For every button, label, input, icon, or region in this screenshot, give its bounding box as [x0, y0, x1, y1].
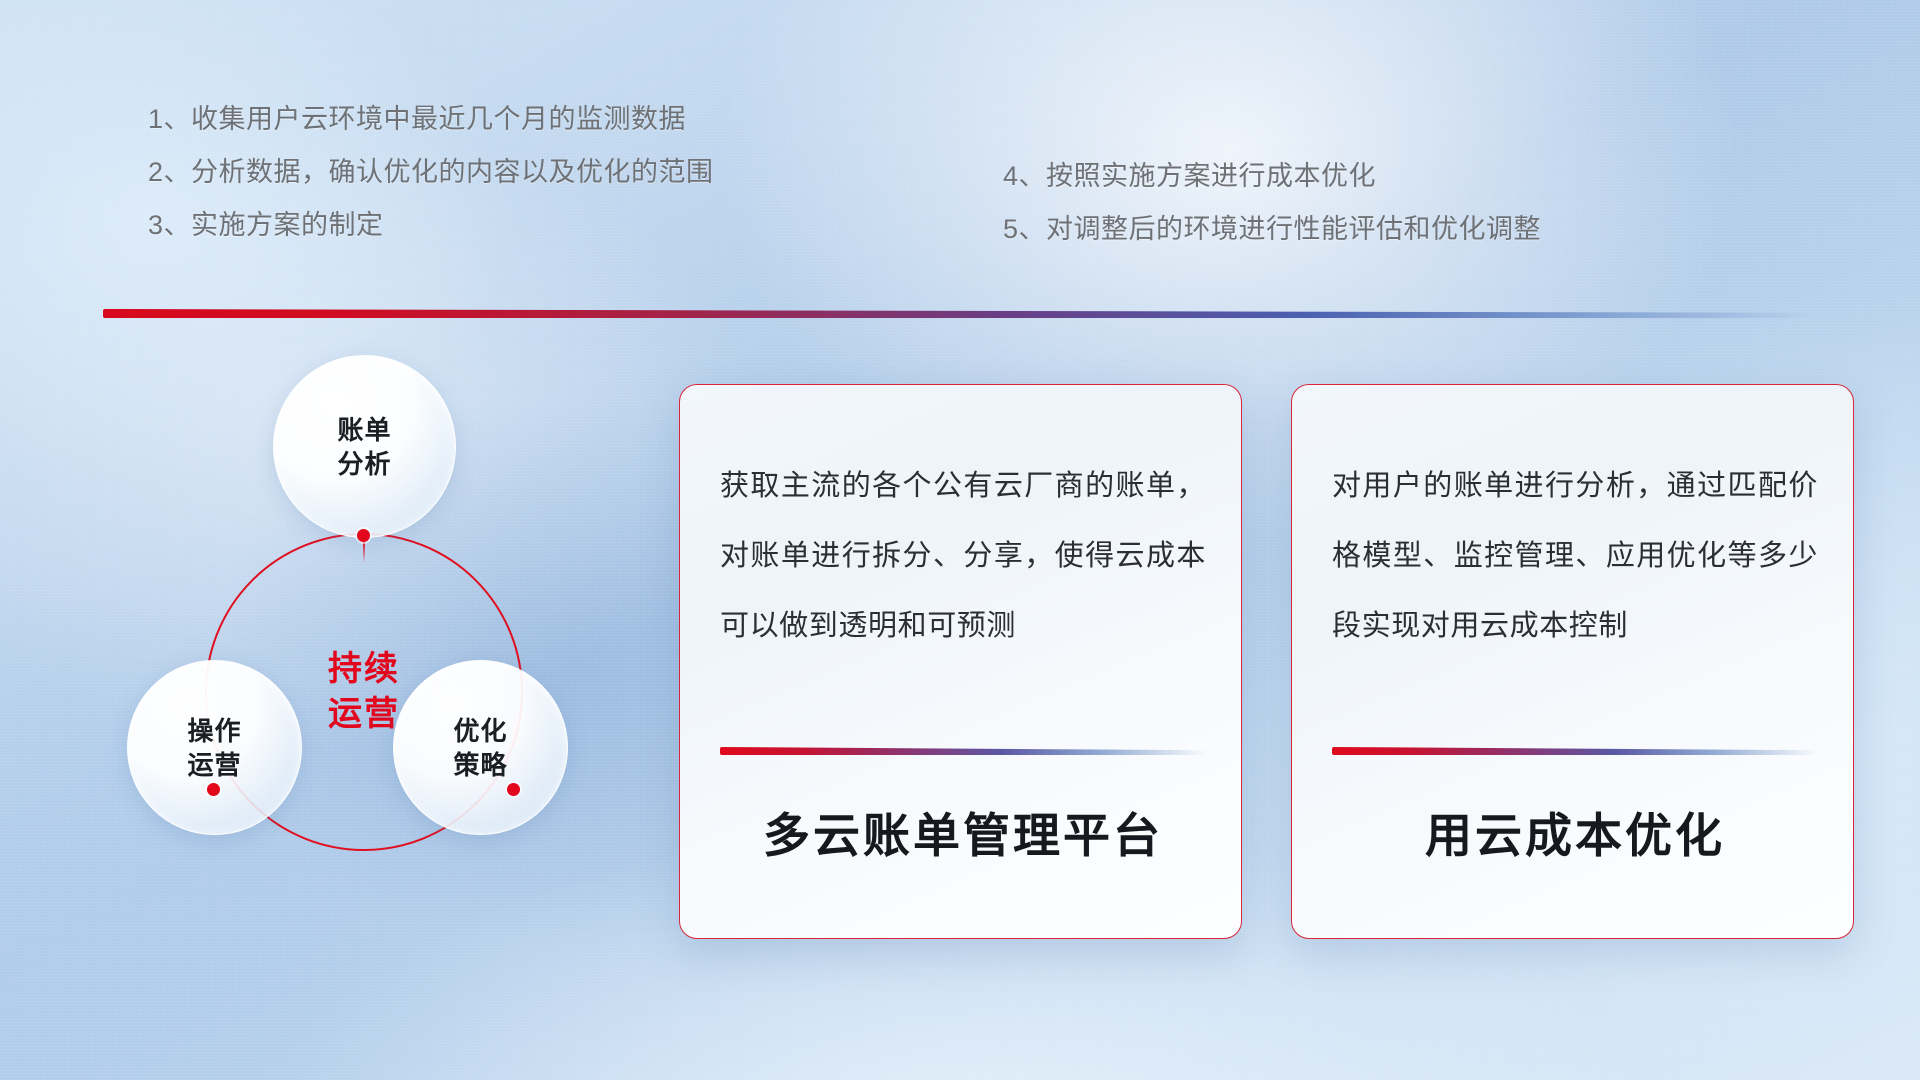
bubble-top-line2: 分析 [337, 447, 391, 481]
card2-title: 用云成本优化 [1332, 797, 1818, 866]
bubble-bottom-left-line1: 操作 [187, 714, 241, 748]
bubble-top-line1: 账单 [337, 413, 391, 447]
steps-left-column: 1、收集用户云环境中最近几个月的监测数据 2、分析数据，确认优化的内容以及优化的… [148, 93, 714, 252]
bubble-optimization-strategy[interactable]: 优化 策略 [393, 660, 568, 835]
card2-body-text: 对用户的账单进行分析，通过匹配价格模型、监控管理、应用优化等多少段实现对用云成本… [1332, 451, 1818, 661]
step-item-5: 5、对调整后的环境进行性能评估和优化调整 [1003, 203, 1541, 256]
step-item-2: 2、分析数据，确认优化的内容以及优化的范围 [148, 146, 714, 199]
section-divider [103, 309, 1818, 318]
node-dot-bottom-left [207, 783, 220, 796]
center-label-line2: 运营 [328, 692, 400, 737]
bubble-billing-analysis[interactable]: 账单 分析 [273, 355, 456, 538]
bubble-bottom-right-line1: 优化 [453, 714, 507, 748]
card1-body-text: 获取主流的各个公有云厂商的账单，对账单进行拆分、分享，使得云成本可以做到透明和可… [720, 451, 1206, 661]
card2-divider [1332, 747, 1818, 755]
step-item-1: 1、收集用户云环境中最近几个月的监测数据 [148, 93, 714, 146]
node-dot-top [357, 529, 370, 542]
step-item-4: 4、按照实施方案进行成本优化 [1003, 150, 1541, 203]
divider-gradient-bar [103, 309, 1818, 318]
card1-divider [720, 747, 1206, 755]
bubble-bottom-right-line2: 策略 [453, 748, 507, 782]
bubble-operations[interactable]: 操作 运营 [127, 660, 302, 835]
node-dot-bottom-right [507, 783, 520, 796]
card1-title: 多云账单管理平台 [720, 797, 1206, 866]
center-label-line1: 持续 [328, 647, 400, 692]
step-item-3: 3、实施方案的制定 [148, 199, 714, 252]
connector-stem-top [363, 541, 365, 563]
card-cloud-cost-optimization[interactable]: 对用户的账单进行分析，通过匹配价格模型、监控管理、应用优化等多少段实现对用云成本… [1291, 384, 1854, 939]
bubble-bottom-left-line2: 运营 [187, 748, 241, 782]
card-multicloud-billing-platform[interactable]: 获取主流的各个公有云厂商的账单，对账单进行拆分、分享，使得云成本可以做到透明和可… [679, 384, 1242, 939]
steps-right-column: 4、按照实施方案进行成本优化 5、对调整后的环境进行性能评估和优化调整 [1003, 150, 1541, 256]
venn-circle-diagram: 持续 运营 账单 分析 操作 运营 优化 策略 [95, 355, 625, 915]
